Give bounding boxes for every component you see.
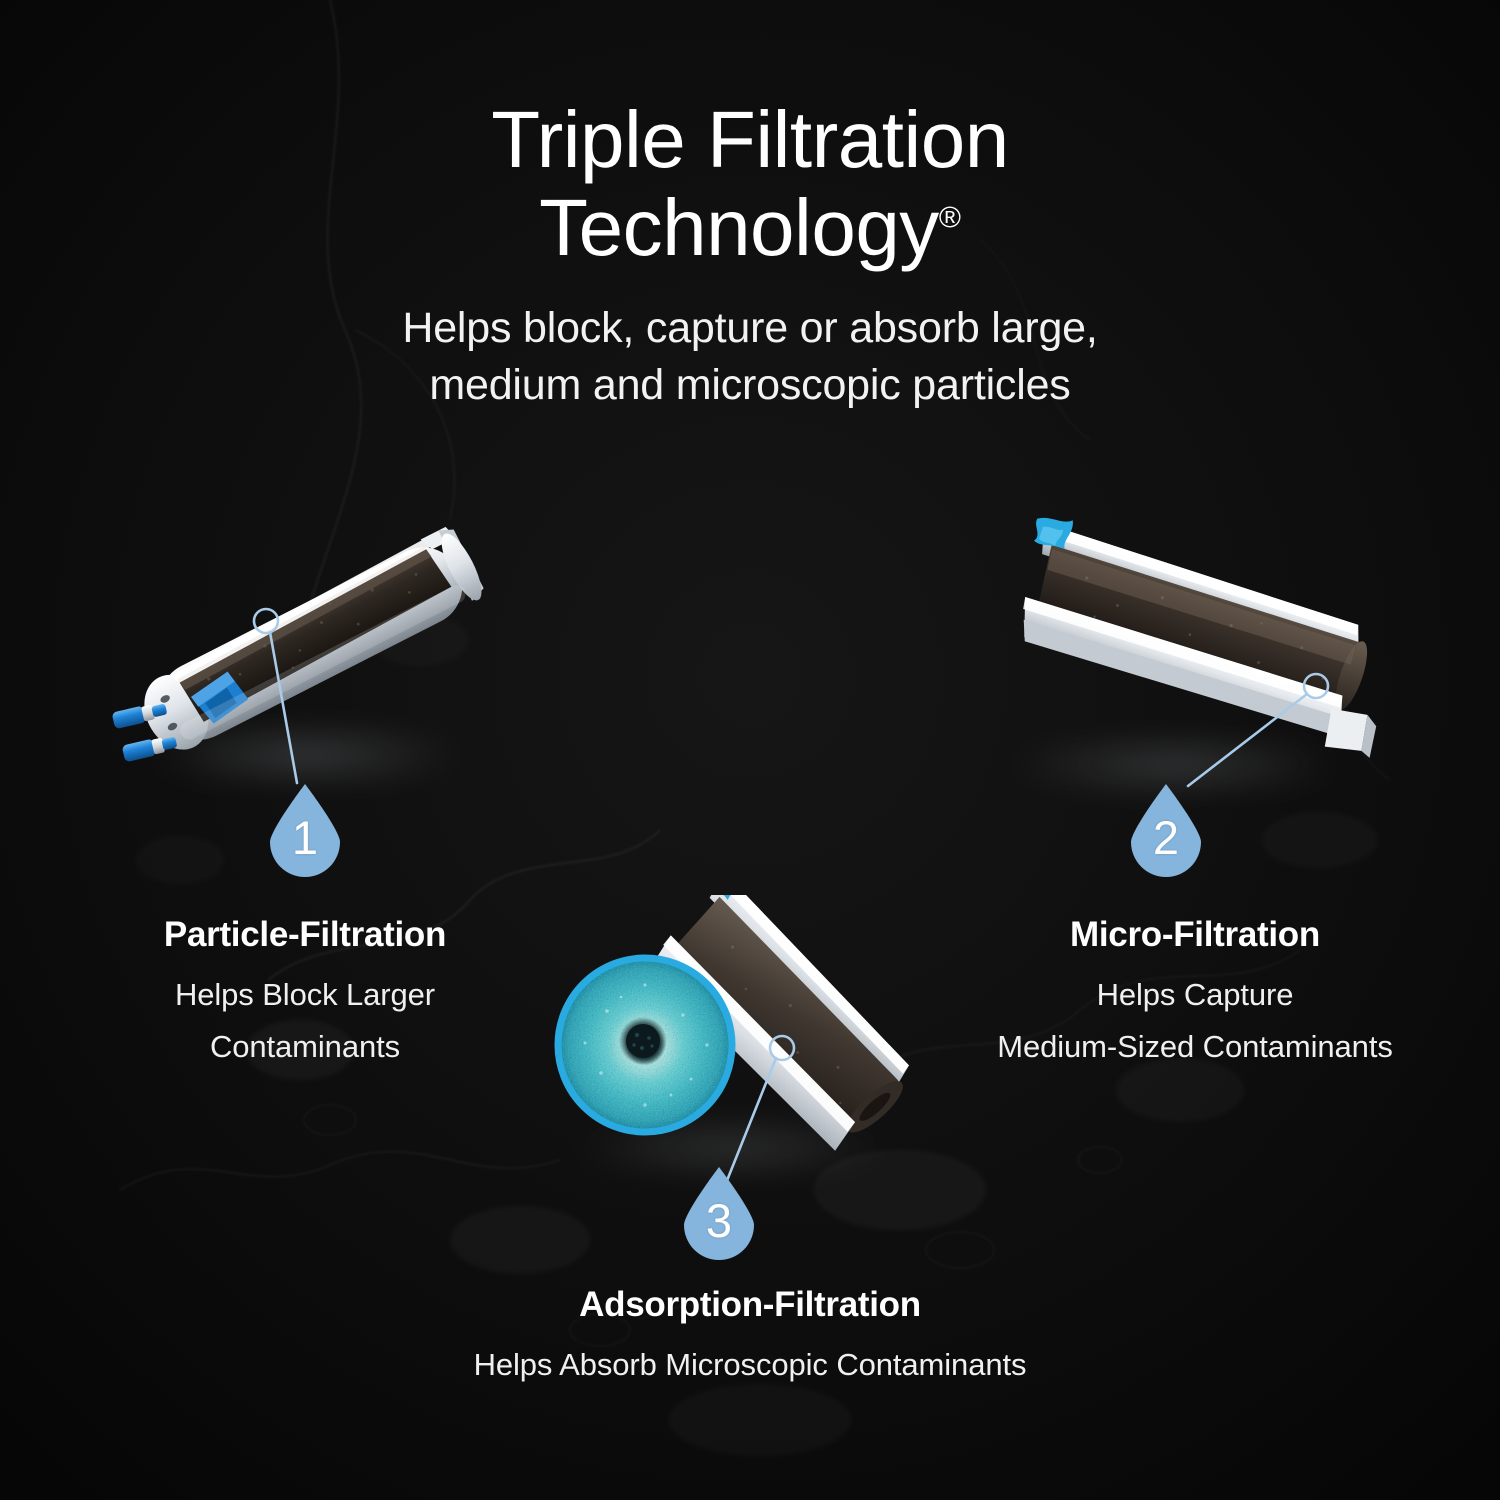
step-title-2: Micro-Filtration [945, 915, 1445, 955]
subtitle-line-2: medium and microscopic particles [429, 361, 1070, 409]
step-desc-3-line-1: Helps Absorb Microscopic Contaminants [450, 1347, 1050, 1383]
step-desc-2-line-2: Medium-Sized Contaminants [945, 1029, 1445, 1065]
step-desc-2-line-1: Helps Capture [945, 977, 1445, 1013]
callout-leader-2 [1180, 668, 1340, 796]
title-line-2: Technology [539, 183, 939, 272]
step-badge-number-3: 3 [706, 1183, 732, 1244]
step-desc-1-line-1: Helps Block Larger [55, 977, 555, 1013]
step-badge-2: 2 [1123, 782, 1209, 878]
step-badge-3: 3 [676, 1165, 762, 1261]
step-caption-3: Adsorption-Filtration Helps Absorb Micro… [450, 1285, 1050, 1383]
step-caption-2: Micro-Filtration Helps Capture Medium-Si… [945, 915, 1445, 1065]
callout-leader-1 [245, 605, 335, 795]
registered-trademark-icon: ® [939, 201, 961, 234]
header: Triple Filtration Technology® Helps bloc… [0, 0, 1500, 414]
page-subtitle: Helps block, capture or absorb large, me… [0, 300, 1500, 414]
subtitle-line-1: Helps block, capture or absorb large, [402, 304, 1097, 352]
step-caption-1: Particle-Filtration Helps Block Larger C… [55, 915, 555, 1065]
step-badge-number-1: 1 [292, 800, 318, 861]
step-desc-1-line-2: Contaminants [55, 1029, 555, 1065]
step-badge-1: 1 [262, 782, 348, 878]
step-title-1: Particle-Filtration [55, 915, 555, 955]
step-badge-number-2: 2 [1153, 800, 1179, 861]
infographic-root: Triple Filtration Technology® Helps bloc… [0, 0, 1500, 1500]
title-line-1: Triple Filtration [491, 95, 1009, 184]
step-title-3: Adsorption-Filtration [450, 1285, 1050, 1325]
page-title: Triple Filtration Technology® [0, 96, 1500, 272]
